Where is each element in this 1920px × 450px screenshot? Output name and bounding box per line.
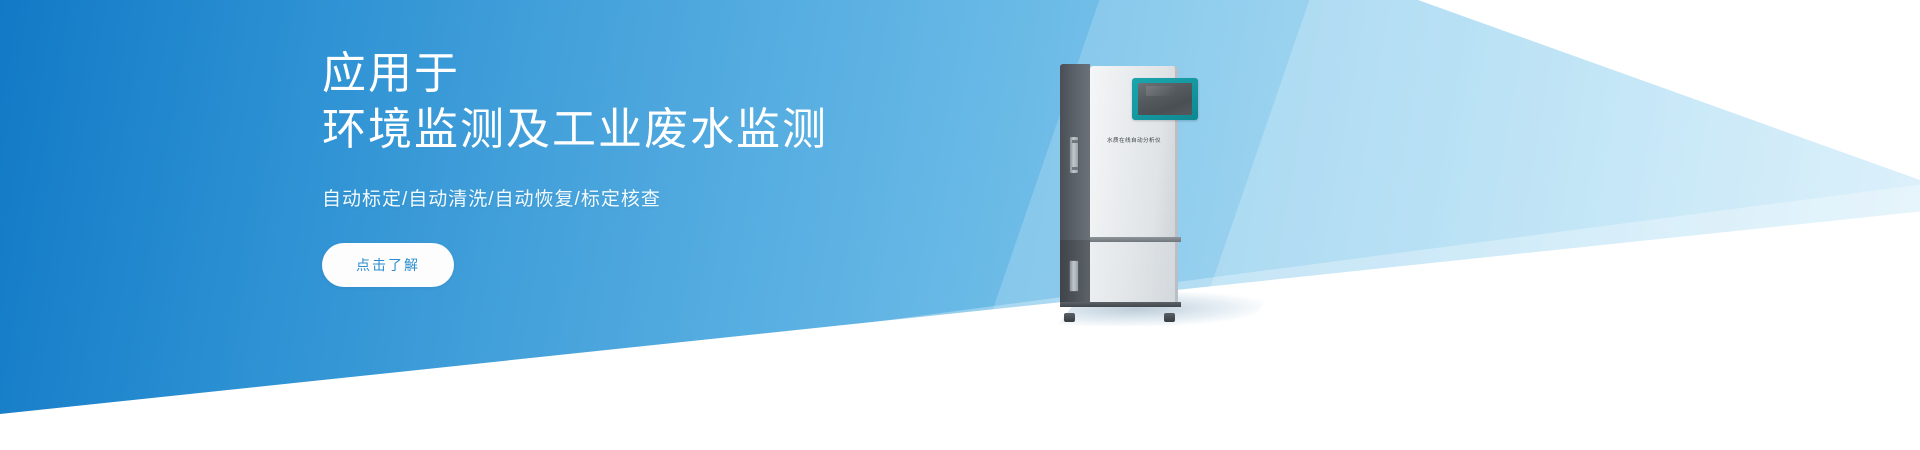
door-handle-upper-icon [1069,136,1079,174]
device-display-bezel [1132,78,1198,120]
banner-subheading: 自动标定/自动清洗/自动恢复/标定核查 [322,184,1082,211]
device-panel-label: 水质在线自动分析仪 [1090,136,1178,144]
headline-line-2: 环境监测及工业废水监测 [322,102,1082,158]
device-base-plinth [1060,302,1181,307]
banner-content: 应用于 环境监测及工业废水监测 自动标定/自动清洗/自动恢复/标定核查 点击了解 [322,46,1082,287]
headline-line-1: 应用于 [322,46,1082,102]
hero-banner: 应用于 环境监测及工业废水监测 自动标定/自动清洗/自动恢复/标定核查 点击了解… [0,0,1920,450]
device-foot-right [1164,313,1175,322]
learn-more-button[interactable]: 点击了解 [322,243,454,287]
product-device-image: 水质在线自动分析仪 [1060,64,1186,316]
device-cabinet: 水质在线自动分析仪 [1060,64,1186,316]
device-foot-left [1064,313,1075,322]
door-handle-lower-icon [1069,260,1079,292]
device-upper-door [1090,66,1178,238]
display-screen [1138,83,1192,115]
device-lower-door [1090,242,1178,304]
